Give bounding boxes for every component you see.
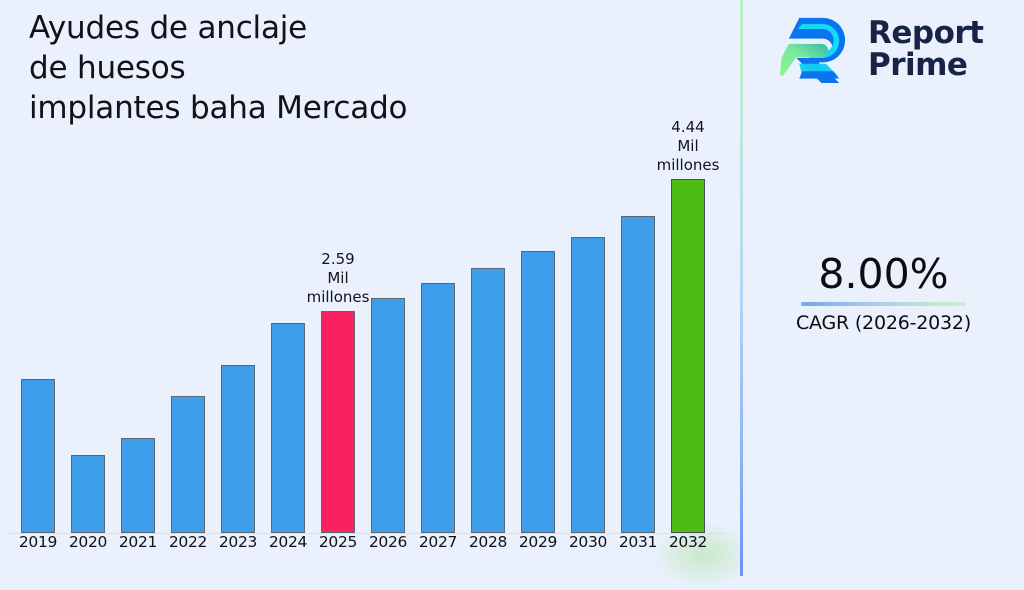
x-axis-tick-2025: 2025 [313, 533, 363, 551]
bar-group-2027 [413, 43, 463, 533]
brand-logo[interactable]: Report Prime [780, 12, 984, 86]
bar-2023[interactable] [221, 365, 255, 533]
bar-2025[interactable] [321, 311, 355, 533]
bar-2029[interactable] [521, 251, 555, 533]
bar-group-2023 [213, 43, 263, 533]
bar-group-2032 [663, 43, 713, 533]
cagr-underline [801, 302, 966, 306]
x-axis-tick-2020: 2020 [63, 533, 113, 551]
cagr-value: 8.00% [743, 250, 1024, 298]
x-axis-tick-2019: 2019 [13, 533, 63, 551]
x-axis-tick-2024: 2024 [263, 533, 313, 551]
brand-name: Report Prime [868, 17, 984, 81]
x-axis-tick-2022: 2022 [163, 533, 213, 551]
bar-group-2028 [463, 43, 513, 533]
bar-2031[interactable] [621, 216, 655, 533]
cagr-caption: CAGR (2026-2032) [743, 311, 1024, 335]
bar-2027[interactable] [421, 283, 455, 533]
bar-2028[interactable] [471, 268, 505, 533]
bar-2032[interactable] [671, 179, 705, 533]
bar-2022[interactable] [171, 396, 205, 533]
forecast-year-value-label: 4.44 Mil millones [640, 118, 736, 175]
bar-2024[interactable] [271, 323, 305, 533]
report-prime-logo-icon [780, 12, 854, 86]
bar-2026[interactable] [371, 298, 405, 533]
bar-2030[interactable] [571, 237, 605, 533]
bar-group-2021 [113, 43, 163, 533]
x-axis-tick-2031: 2031 [613, 533, 663, 551]
x-axis-tick-2032: 2032 [663, 533, 713, 551]
chart-panel: Ayudes de anclaje de huesos implantes ba… [0, 0, 740, 576]
bar-group-2022 [163, 43, 213, 533]
bar-group-2029 [513, 43, 563, 533]
x-axis-tick-2028: 2028 [463, 533, 513, 551]
x-axis-tick-2030: 2030 [563, 533, 613, 551]
cagr-block: 8.00% CAGR (2026-2032) [743, 250, 1024, 335]
x-axis-tick-2026: 2026 [363, 533, 413, 551]
x-axis-tick-2023: 2023 [213, 533, 263, 551]
x-axis-tick-2021: 2021 [113, 533, 163, 551]
x-axis-tick-2029: 2029 [513, 533, 563, 551]
bar-2020[interactable] [71, 455, 105, 533]
bar-group-2019 [13, 43, 63, 533]
base-year-value-label: 2.59 Mil millones [290, 250, 386, 307]
bar-2019[interactable] [21, 379, 55, 533]
bar-group-2020 [63, 43, 113, 533]
bar-2021[interactable] [121, 438, 155, 533]
x-axis-tick-2027: 2027 [413, 533, 463, 551]
bar-group-2030 [563, 43, 613, 533]
brand-panel: Report Prime 8.00% CAGR (2026-2032) [743, 0, 1024, 576]
bar-group-2031 [613, 43, 663, 533]
